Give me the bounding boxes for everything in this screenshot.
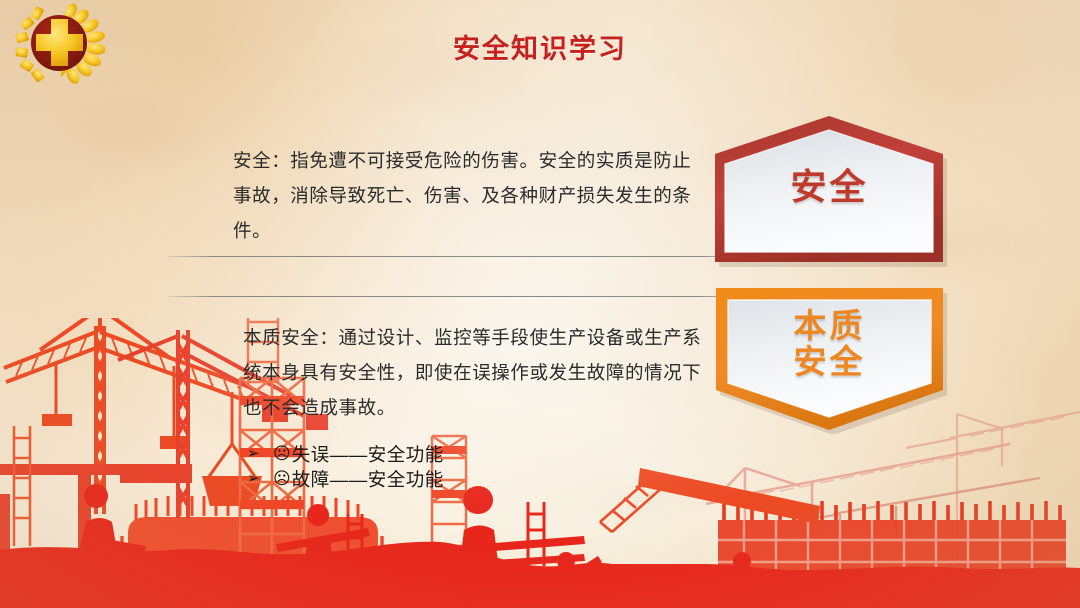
paragraph-safety-definition: 安全：指免遭不可接受危险的伤害。安全的实质是防止事故，消除导致死亡、伤害、及各种… (233, 143, 701, 248)
list-item-label: 故障——安全功能 (292, 466, 444, 492)
divider-top (168, 256, 746, 257)
safety-badge-label: 安全 (712, 168, 947, 207)
badge-label-line-1: 本质 (794, 307, 866, 344)
badge-label-line-2: 安全 (794, 343, 866, 380)
sad-face-icon: ☹ (273, 444, 291, 464)
safety-badge[interactable]: 安全 (712, 112, 947, 268)
paragraph-intrinsic-safety-definition: 本质安全：通过设计、监控等手段使生产设备或生产系统本身具有安全性，即使在误操作或… (243, 320, 711, 425)
intrinsic-safety-badge[interactable]: 本质 安全 (712, 284, 947, 434)
intrinsic-safety-badge-label: 本质 安全 (712, 308, 947, 379)
divider-bottom (168, 296, 746, 297)
slide-canvas: 安全知识学习 安全：指免遭不可接受危险的伤害。安全的实质是防止事故，消除导致死亡… (0, 0, 1080, 608)
page-title: 安全知识学习 (0, 27, 1080, 66)
sad-face-icon: ☹ (273, 469, 291, 489)
arrow-bullet-icon: ➢ (247, 471, 273, 486)
list-item: ➢ ☹ 失误——安全功能 (247, 441, 444, 466)
arrow-bullet-icon: ➢ (247, 446, 273, 461)
bullet-list: ➢ ☹ 失误——安全功能 ➢ ☹ 故障——安全功能 (247, 441, 444, 491)
list-item-label: 失误——安全功能 (292, 441, 444, 467)
list-item: ➢ ☹ 故障——安全功能 (247, 466, 444, 491)
